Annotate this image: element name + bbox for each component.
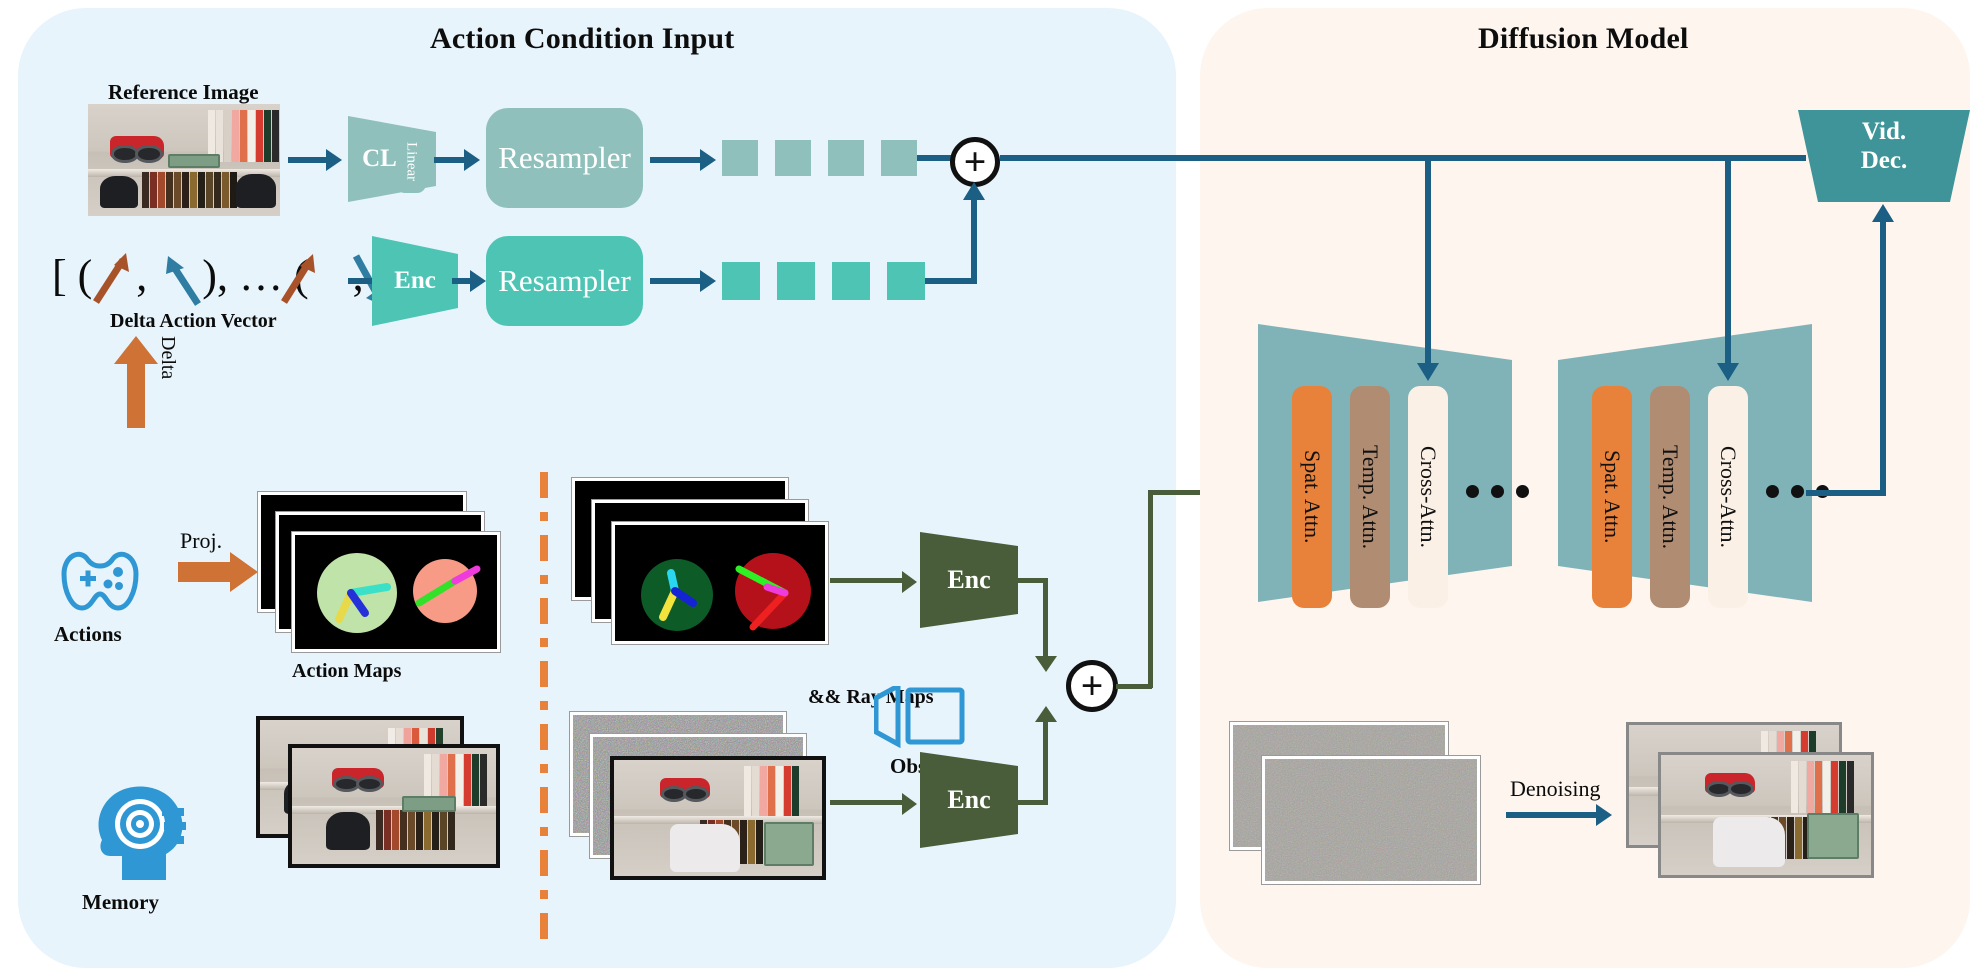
token-bottom-2 — [777, 262, 815, 300]
unet1-spat-attn-label: Spat. Attn. — [1299, 450, 1325, 544]
camera-frustum-icon — [874, 686, 966, 748]
panel-title-diffusion-model: Diffusion Model — [1478, 22, 1689, 56]
actions-label: Actions — [54, 622, 122, 647]
token-top-3 — [828, 140, 864, 176]
token-bottom-1 — [722, 262, 760, 300]
line-enc-obs-up — [1043, 722, 1048, 804]
unet2-temp-attn-block[interactable]: Temp. Attn. — [1650, 386, 1690, 608]
token-top-2 — [775, 140, 811, 176]
unet1-spat-attn-block[interactable]: Spat. Attn. — [1292, 386, 1332, 608]
gamepad-icon — [50, 546, 150, 616]
proj-label: Proj. — [180, 528, 222, 554]
unet2-spat-attn-block[interactable]: Spat. Attn. — [1592, 386, 1632, 608]
enc-obs-block[interactable]: Enc — [920, 752, 1018, 848]
ray-map-frame-front — [612, 522, 828, 644]
token-top-4 — [881, 140, 917, 176]
enc-action-label: Enc — [372, 232, 458, 330]
line-unet-to-viddec-h — [1806, 490, 1886, 496]
condition-branch-unet2 — [1725, 155, 1731, 367]
resampler-top-label: Resampler — [498, 140, 631, 176]
resampler-bottom-block[interactable]: Resampler — [486, 236, 643, 326]
vid-dec-label: Vid. Dec. — [1798, 118, 1970, 176]
line-sum-to-unet-b — [1148, 492, 1153, 688]
memory-photo-front — [288, 744, 500, 868]
sum-node-latent: + — [1066, 660, 1118, 712]
unet2-spat-attn-label: Spat. Attn. — [1599, 450, 1625, 544]
token-top-1 — [722, 140, 758, 176]
condition-branch-unet1 — [1425, 155, 1431, 367]
arrowhead-enc-ray-into-sum — [1035, 656, 1057, 672]
enc-obs-label: Enc — [920, 752, 1018, 848]
enc-raymaps-label: Enc — [920, 532, 1018, 628]
arrowhead-cond-unet2 — [1717, 363, 1739, 381]
denoise-output-frame-front — [1658, 752, 1874, 878]
delta-up-arrow — [112, 336, 160, 428]
delta-action-vector-label: Delta Action Vector — [110, 310, 277, 333]
unet1-temp-attn-block[interactable]: Temp. Attn. — [1350, 386, 1390, 608]
reference-image-photo — [88, 104, 280, 216]
ray-map-content — [615, 525, 825, 641]
section-divider — [540, 472, 548, 942]
token-bottom-3 — [832, 262, 870, 300]
line-bottom-tokens-right — [925, 278, 977, 284]
plus-symbol: + — [964, 142, 987, 182]
denoise-input-frame-front — [1262, 756, 1480, 884]
linear-block[interactable]: Linear — [396, 131, 426, 193]
memory-label: Memory — [82, 890, 159, 915]
line-bottom-tokens-up — [971, 200, 977, 280]
denoise-noise-front — [1265, 759, 1477, 881]
unet1-ellipsis — [1466, 485, 1529, 498]
condition-bus-horizontal — [1000, 155, 1806, 161]
sum-node-condition: + — [950, 137, 1000, 187]
vid-dec-line-1: Vid. — [1798, 118, 1970, 147]
token-bottom-4 — [887, 262, 925, 300]
arrowhead-cond-unet1 — [1417, 363, 1439, 381]
linear-label: Linear — [403, 142, 420, 181]
unet2-temp-attn-label: Temp. Attn. — [1657, 445, 1683, 549]
arrowhead-into-viddec — [1872, 204, 1894, 222]
delta-arrow-label: Delta — [156, 336, 179, 379]
enc-raymaps-block[interactable]: Enc — [920, 532, 1018, 628]
diagram-canvas: Action Condition Input Reference Image — [0, 0, 1988, 980]
resampler-top-block[interactable]: Resampler — [486, 108, 643, 208]
enc-action-block[interactable]: Enc — [372, 232, 458, 330]
line-tokens-to-sum — [917, 155, 953, 161]
denoising-label: Denoising — [1510, 776, 1600, 802]
resampler-bottom-label: Resampler — [498, 263, 631, 299]
line-enc-ray-down — [1043, 578, 1048, 660]
action-map-frame-front — [292, 532, 500, 652]
unet1-temp-attn-label: Temp. Attn. — [1357, 445, 1383, 549]
line-sum-to-unet-a — [1116, 684, 1152, 689]
action-map-content — [295, 535, 497, 649]
unet1-cross-attn-label: Cross-Attn. — [1415, 446, 1441, 548]
unet2-cross-attn-block[interactable]: Cross-Attn. — [1708, 386, 1748, 608]
plus-symbol-2: + — [1081, 666, 1104, 706]
obs-frame-front — [610, 756, 826, 880]
panel-title-action-condition-input: Action Condition Input — [430, 22, 735, 56]
memory-brain-icon — [92, 780, 196, 884]
proj-arrow — [178, 552, 260, 592]
reference-image-label: Reference Image — [108, 80, 259, 105]
arrowhead-into-sum — [963, 182, 985, 200]
line-unet-to-viddec-v — [1880, 222, 1886, 494]
arrowhead-enc-obs-into-sum — [1035, 706, 1057, 722]
vid-dec-line-2: Dec. — [1798, 147, 1970, 176]
action-maps-label: Action Maps — [292, 660, 401, 683]
unet1-cross-attn-block[interactable]: Cross-Attn. — [1408, 386, 1448, 608]
unet2-cross-attn-label: Cross-Attn. — [1715, 446, 1741, 548]
